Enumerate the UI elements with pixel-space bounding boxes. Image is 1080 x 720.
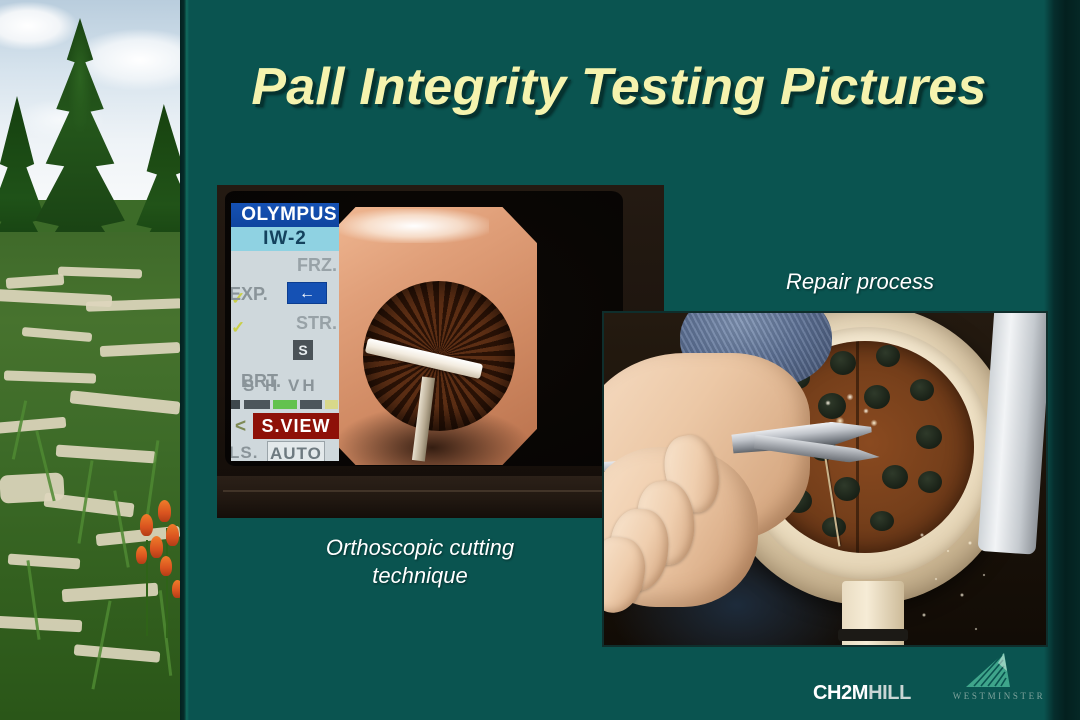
paintbrush-flower [172,580,180,598]
filter-dot [830,351,856,375]
westminster-logo-text: WESTMINSTER [938,691,1060,701]
monitor-screen: OLYMPUS IW-2 FRZ. ✓ EXP. ← ✓ STR. S [225,191,623,466]
forest-meadow-photo [0,0,180,720]
hill-logo-text: HILL [868,682,911,704]
specular-glare [339,209,489,243]
right-edge-band [1044,0,1080,720]
filter-dot [834,477,860,501]
filter-dot [918,471,942,493]
filter-dot [910,379,934,401]
caption-repair-process: Repair process [700,268,1020,296]
osd-row-exposure: ✓ EXP. ← [231,280,339,309]
paintbrush-flower [150,536,163,558]
caption-orthoscopic-technique: Orthoscopic cutting technique [260,534,580,590]
osd-auto-label: AUTO [267,441,325,461]
lower-shadow [337,407,527,465]
olympus-osd-panel: OLYMPUS IW-2 FRZ. ✓ EXP. ← ✓ STR. S [231,203,339,461]
osd-sview-badge: S.VIEW [253,413,339,439]
filter-dot [916,425,942,449]
paintbrush-flower [136,546,147,564]
endoscope-monitor-photo: OLYMPUS IW-2 FRZ. ✓ EXP. ← ✓ STR. S [217,185,664,518]
osd-model-label: IW-2 [231,227,339,251]
caption-line-2: technique [260,562,580,590]
paintbrush-flower [166,524,179,546]
osd-stereo-label: STR. [296,309,337,338]
osd-row-freeze: FRZ. [231,251,339,280]
osd-row-stereo-value: S [231,338,339,367]
ch2m-hill-logo: CH2MHILL [813,683,911,703]
osd-stereo-value: S [293,340,313,360]
scale-segment [300,400,322,409]
paintbrush-flower [140,514,153,536]
filter-repair-photo [602,311,1048,647]
paintbrush-flower [158,500,171,522]
scale-segment [244,400,270,409]
left-edge-band [180,0,189,720]
osd-brand-label: OLYMPUS [231,203,339,227]
osd-ls-label: LS. [231,441,258,461]
monitor-bottom-bezel [217,476,664,518]
caption-line-1: Orthoscopic cutting [260,534,580,562]
osd-scale-row: S H VH [231,396,339,413]
left-arrow-icon: ← [287,282,327,304]
droplet-spatter [904,525,1014,645]
housing-neck [842,581,904,647]
slider-left-arrow-icon: < [235,416,246,438]
scale-segment [273,400,297,409]
scale-segment [231,400,240,409]
osd-scale-label: S H VH [243,376,318,396]
osd-exposure-label: EXP. [231,280,268,309]
filter-dot [870,511,894,531]
paintbrush-flower [160,556,172,576]
osd-bottom-row: LS. AUTO FLD WBAL [231,441,339,461]
slide-canvas: Pall Integrity Testing Pictures OLYMPUS … [0,0,1080,720]
westminster-triangle-icon [964,653,1010,687]
endoscope-view [321,207,537,465]
osd-freeze-label: FRZ. [297,251,337,280]
filter-dot [882,465,908,489]
ch2m-logo-text: CH2M [813,682,868,704]
scale-segment [325,400,338,409]
filter-dot [876,345,900,367]
page-title: Pall Integrity Testing Pictures [196,60,1042,115]
westminster-logo: WESTMINSTER [938,653,1060,709]
osd-row-stereo: ✓ STR. [231,309,339,338]
